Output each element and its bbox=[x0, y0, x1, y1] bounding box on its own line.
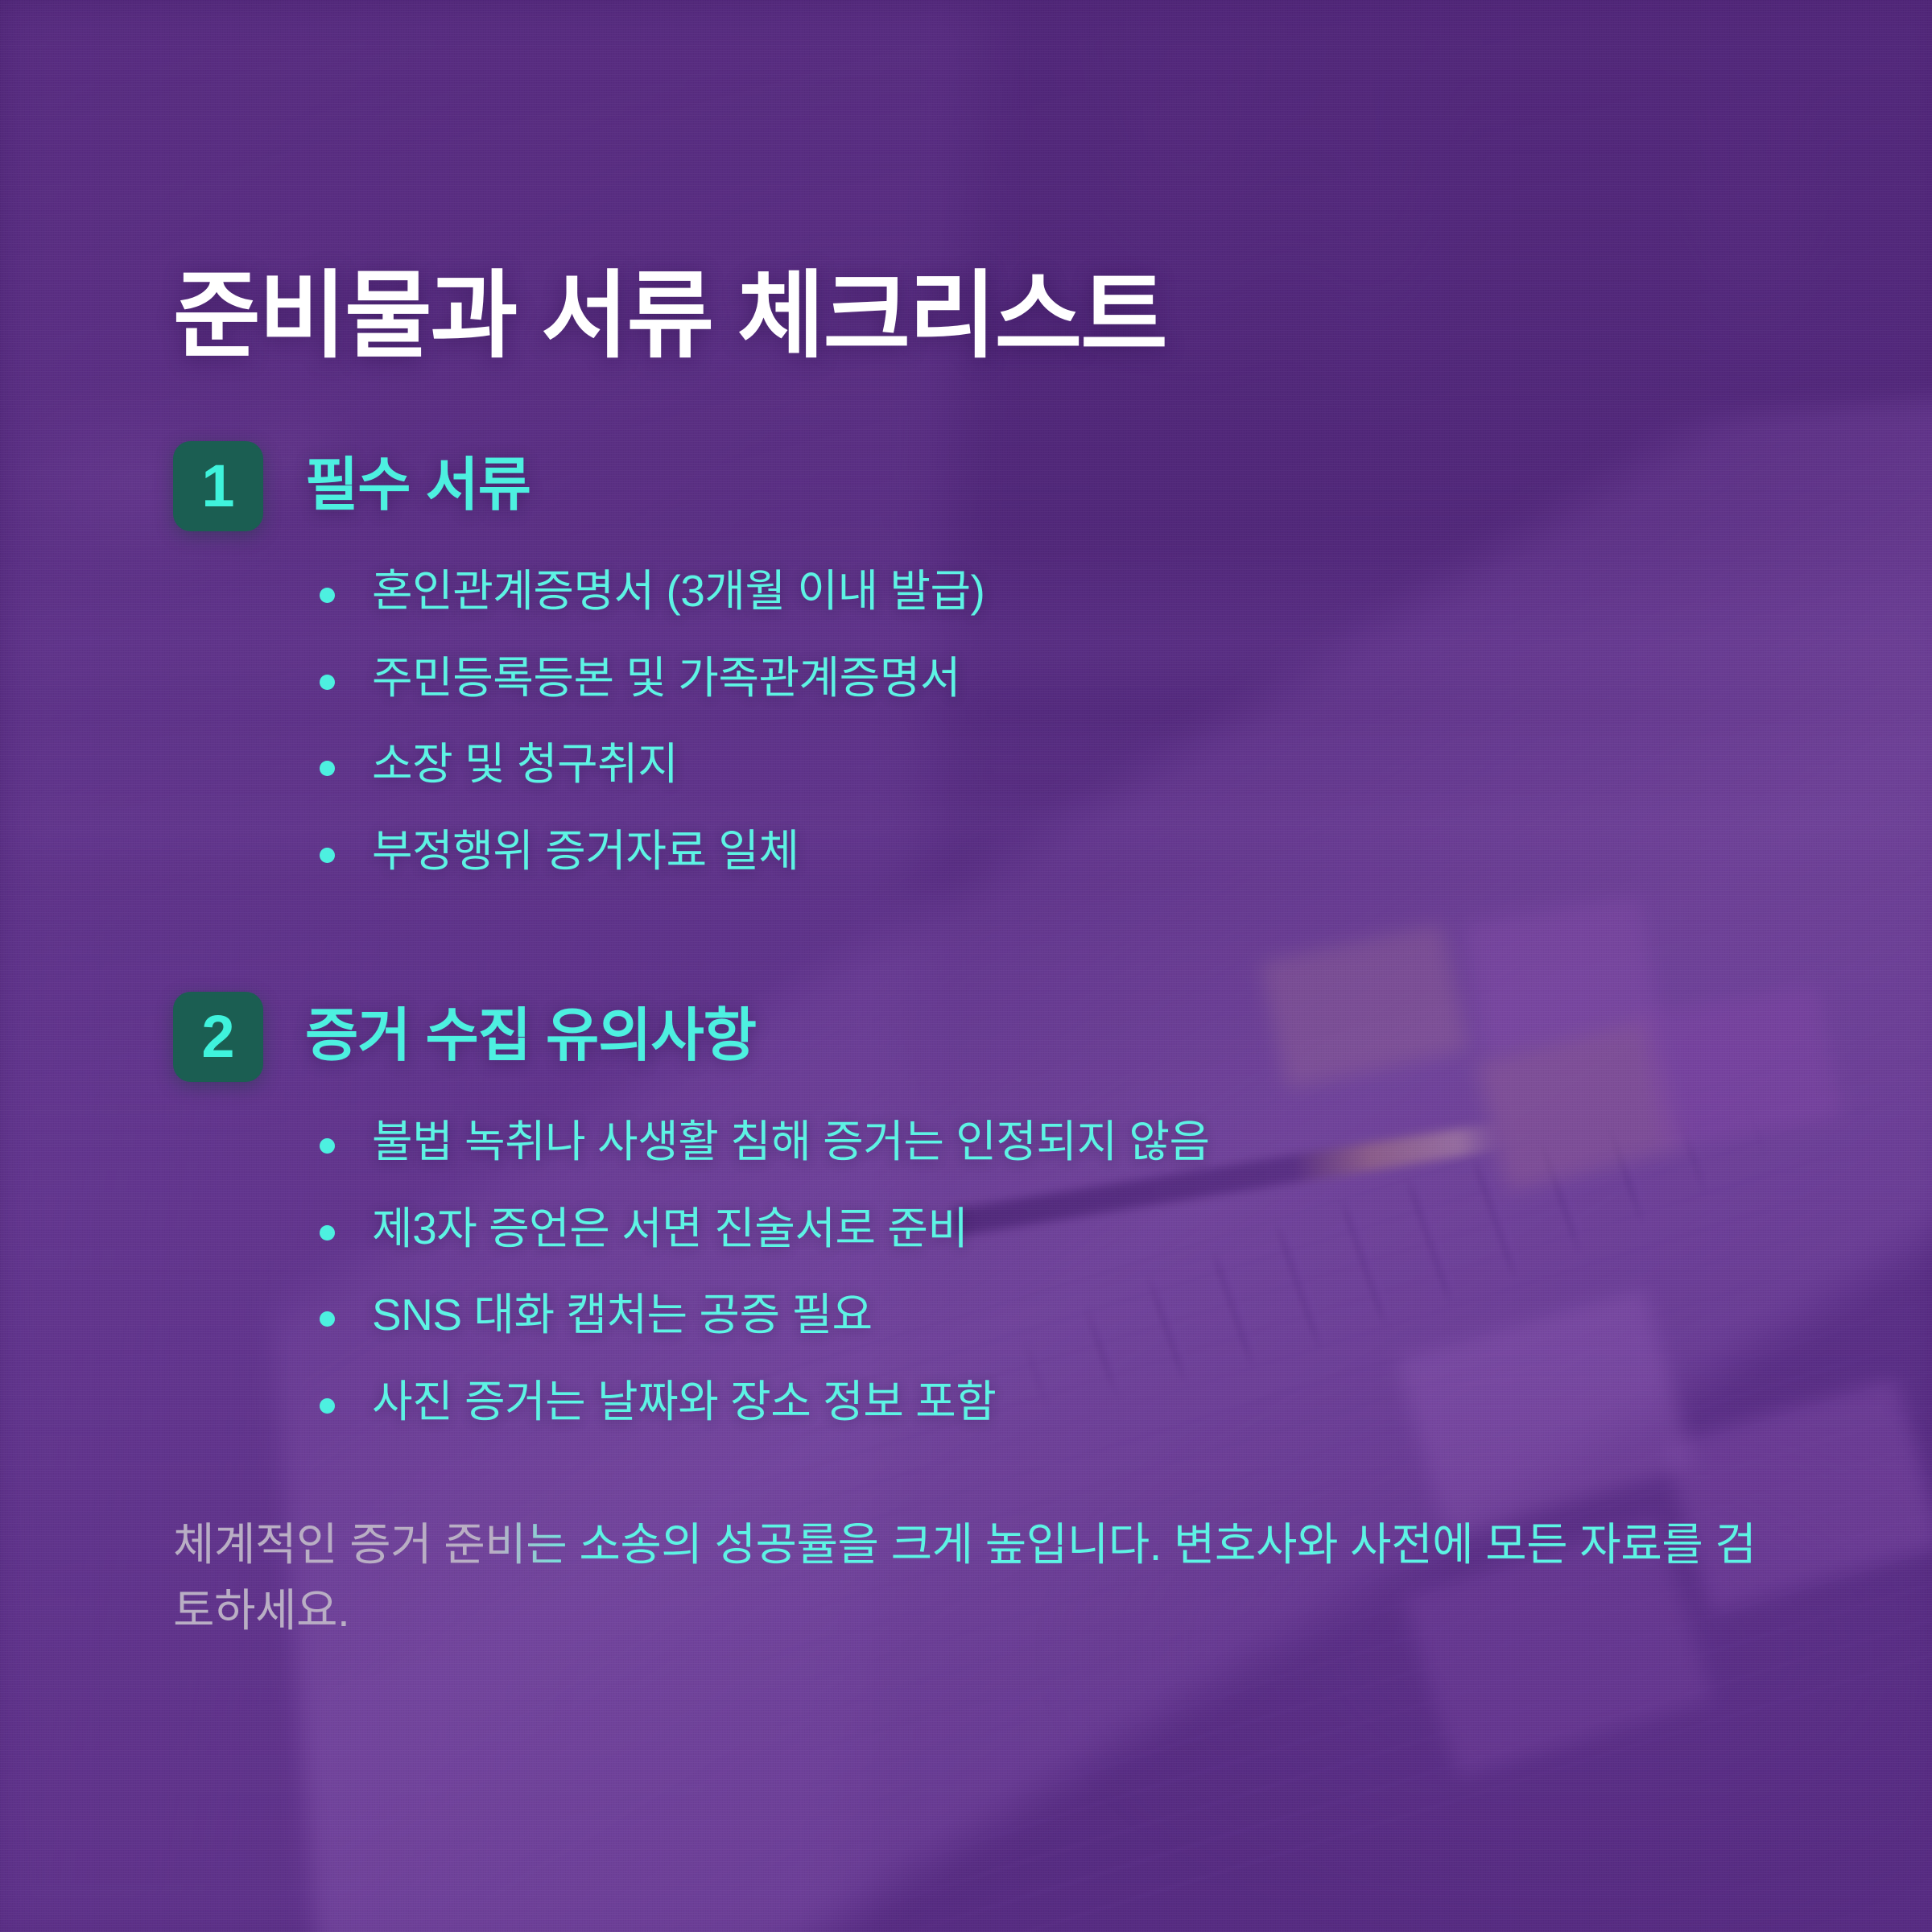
page-title: 준비물과 서류 체크리스트 bbox=[173, 266, 1166, 368]
list-item-label: SNS 대화 캡처는 공증 필요 bbox=[372, 1290, 873, 1340]
checklist-required-documents: 혼인관계증명서 (3개월 이내 발급) 주민등록등본 및 가족관계증명서 소장 … bbox=[173, 567, 985, 876]
closing-note: 체계적인 증거 준비는 소송의 성공률을 크게 높입니다. 변호사와 사전에 모… bbox=[173, 1512, 1775, 1644]
section-header: 1 필수 서류 bbox=[173, 441, 985, 531]
content-wrapper: 준비물과 서류 체크리스트 1 필수 서류 혼인관계증명서 (3개월 이내 발급… bbox=[0, 0, 1932, 1932]
bullet-dot-icon bbox=[320, 588, 335, 603]
list-item: 소장 및 청구취지 bbox=[320, 740, 985, 790]
list-item-label: 혼인관계증명서 (3개월 이내 발급) bbox=[372, 567, 985, 617]
bullet-dot-icon bbox=[320, 848, 335, 863]
section-number-badge: 2 bbox=[173, 992, 263, 1082]
list-item: 혼인관계증명서 (3개월 이내 발급) bbox=[320, 567, 985, 617]
bullet-dot-icon bbox=[320, 761, 335, 776]
section-header: 2 증거 수집 유의사항 bbox=[173, 992, 1210, 1082]
list-item: 사진 증거는 날짜와 장소 정보 포함 bbox=[320, 1377, 1210, 1427]
checklist-evidence-notes: 불법 녹취나 사생활 침해 증거는 인정되지 않음 제3자 증언은 서면 진술서… bbox=[173, 1117, 1210, 1426]
section-number-badge: 1 bbox=[173, 441, 263, 531]
section-heading: 필수 서류 bbox=[305, 456, 530, 517]
bullet-dot-icon bbox=[320, 1398, 335, 1414]
list-item: SNS 대화 캡처는 공증 필요 bbox=[320, 1290, 1210, 1340]
list-item: 주민등록등본 및 가족관계증명서 bbox=[320, 654, 985, 704]
bullet-dot-icon bbox=[320, 675, 335, 690]
list-item: 부정행위 증거자료 일체 bbox=[320, 827, 985, 877]
list-item: 제3자 증언은 서면 진술서로 준비 bbox=[320, 1204, 1210, 1254]
section-required-documents: 1 필수 서류 혼인관계증명서 (3개월 이내 발급) 주민등록등본 및 가족관… bbox=[173, 441, 985, 876]
infographic-card: 준비물과 서류 체크리스트 1 필수 서류 혼인관계증명서 (3개월 이내 발급… bbox=[0, 0, 1932, 1932]
section-evidence-notes: 2 증거 수집 유의사항 불법 녹취나 사생활 침해 증거는 인정되지 않음 제… bbox=[173, 992, 1210, 1426]
list-item-label: 제3자 증언은 서면 진술서로 준비 bbox=[372, 1204, 968, 1254]
list-item-label: 주민등록등본 및 가족관계증명서 bbox=[372, 654, 960, 704]
list-item-label: 불법 녹취나 사생활 침해 증거는 인정되지 않음 bbox=[372, 1117, 1210, 1167]
list-item: 불법 녹취나 사생활 침해 증거는 인정되지 않음 bbox=[320, 1117, 1210, 1167]
bullet-dot-icon bbox=[320, 1311, 335, 1327]
bullet-dot-icon bbox=[320, 1138, 335, 1154]
list-item-label: 사진 증거는 날짜와 장소 정보 포함 bbox=[372, 1377, 996, 1427]
bullet-dot-icon bbox=[320, 1225, 335, 1241]
section-heading: 증거 수집 유의사항 bbox=[305, 1006, 756, 1067]
list-item-label: 부정행위 증거자료 일체 bbox=[372, 827, 799, 877]
list-item-label: 소장 및 청구취지 bbox=[372, 740, 678, 790]
